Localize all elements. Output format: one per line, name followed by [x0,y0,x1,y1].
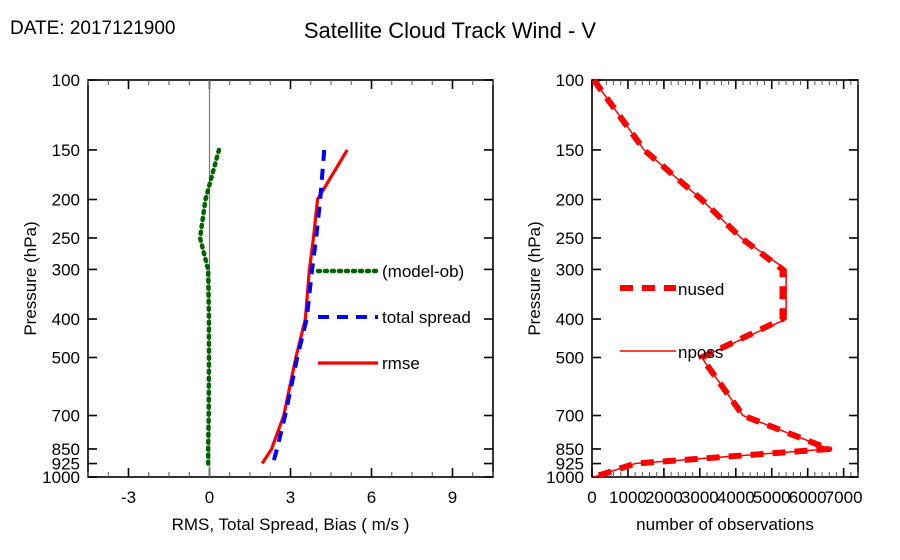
chart-page: DATE: 2017121900 Satellite Cloud Track W… [0,0,900,560]
series-nposs [594,80,829,477]
y-tick-label-500: 500 [52,348,80,367]
x-tick-label-9: 9 [448,488,457,507]
y-tick-label-150: 150 [52,141,80,160]
page-title: Satellite Cloud Track Wind - V [0,18,900,44]
x-tick-label-1000: 1000 [609,488,647,507]
y-tick-label-300: 300 [52,260,80,279]
left-x-axis-title: RMS, Total Spread, Bias ( m/s ) [172,515,410,534]
y-tick-label-250: 250 [556,229,584,248]
x-tick-label-5000: 5000 [753,488,791,507]
y-tick-label-400: 400 [52,310,80,329]
legend-label--model-ob-: (model-ob) [382,262,464,281]
x-tick-label-7000: 7000 [825,488,863,507]
right-plot-frame [592,80,858,477]
y-tick-label-100: 100 [556,71,584,90]
y-tick-label-400: 400 [556,310,584,329]
chart-canvas: -303691001502002503004005007008509251000… [0,0,900,560]
y-tick-label-1000: 1000 [42,468,80,487]
legend-label-nused: nused [678,280,724,299]
x-tick-label-3: 3 [286,488,295,507]
y-tick-label-250: 250 [52,229,80,248]
series-rmse [262,150,347,464]
x-tick-label--3: -3 [121,488,136,507]
y-tick-label-100: 100 [52,71,80,90]
y-tick-label-700: 700 [556,407,584,426]
y-tick-label-200: 200 [52,191,80,210]
y-tick-label-150: 150 [556,141,584,160]
legend-label-nposs: nposs [678,343,723,362]
series-total-spread [273,150,324,464]
right-y-axis-title: Pressure (hPa) [525,221,544,335]
right-x-axis-title: number of observations [636,515,814,534]
y-tick-label-700: 700 [52,407,80,426]
legend-label-rmse: rmse [382,354,420,373]
y-tick-label-500: 500 [556,348,584,367]
y-tick-label-1000: 1000 [546,468,584,487]
x-tick-label-2000: 2000 [645,488,683,507]
x-tick-label-0: 0 [205,488,214,507]
x-tick-label-6: 6 [367,488,376,507]
y-tick-label-300: 300 [556,260,584,279]
x-tick-label-3000: 3000 [681,488,719,507]
x-tick-label-0: 0 [587,488,596,507]
x-tick-label-4000: 4000 [717,488,755,507]
left-y-axis-title: Pressure (hPa) [21,221,40,335]
series-nused [594,80,829,477]
y-tick-label-200: 200 [556,191,584,210]
x-tick-label-6000: 6000 [789,488,827,507]
legend-label-total-spread: total spread [382,308,471,327]
